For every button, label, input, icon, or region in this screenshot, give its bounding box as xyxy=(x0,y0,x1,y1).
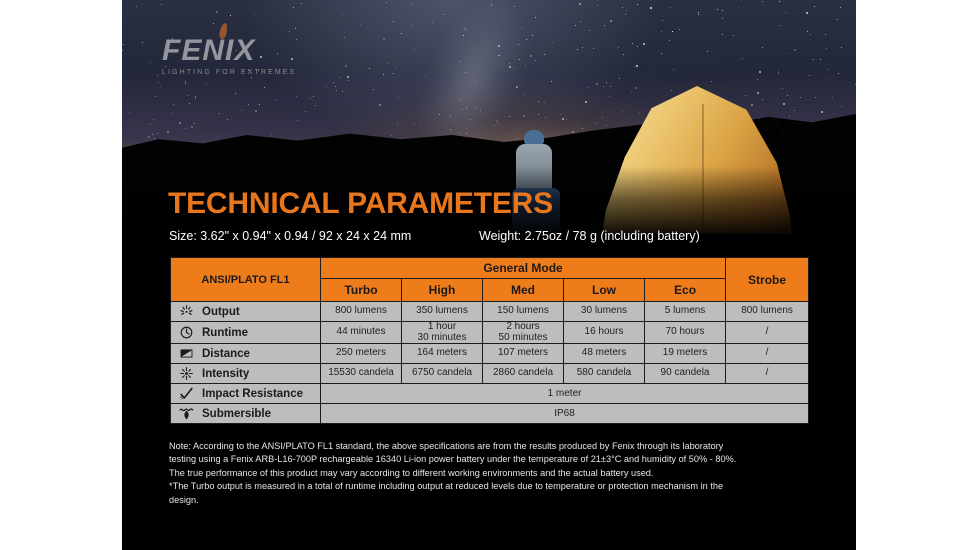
table-row: Output800 lumens350 lumens150 lumens30 l… xyxy=(171,302,809,322)
cell-distance-high: 164 meters xyxy=(402,344,483,364)
logo-tagline: LIGHTING FOR EXTREMES xyxy=(162,69,296,76)
header-strobe: Strobe xyxy=(726,258,809,302)
row-label-text: Distance xyxy=(202,348,250,360)
cell-output-med: 150 lumens xyxy=(483,302,564,322)
row-label-text: Output xyxy=(202,306,240,318)
row-label-distance: Distance xyxy=(171,344,321,364)
row-label-output: Output xyxy=(171,302,321,322)
row-label-intensity: Intensity xyxy=(171,364,321,384)
table-body: Output800 lumens350 lumens150 lumens30 l… xyxy=(171,302,809,424)
cell-intensity-high: 6750 candela xyxy=(402,364,483,384)
table-row: Distance250 meters164 meters107 meters48… xyxy=(171,344,809,364)
cell-text: 50 minutes xyxy=(483,333,563,344)
cell-output-low: 30 lumens xyxy=(564,302,645,322)
cell-text: 48 meters xyxy=(564,348,644,359)
cell-intensity-strobe: / xyxy=(726,364,809,384)
content-panel: FENIX LIGHTING FOR EXTREMES TECHNICAL PA… xyxy=(122,0,856,550)
cell-impact-resistance-value: 1 meter xyxy=(321,384,809,404)
cell-text: 150 lumens xyxy=(483,306,563,317)
note-line-5: design. xyxy=(169,494,817,507)
size-text: Size: 3.62" x 0.94" x 0.94 / 92 x 24 x 2… xyxy=(169,229,479,243)
cell-runtime-eco: 70 hours xyxy=(645,322,726,344)
camper-head xyxy=(524,130,544,145)
cell-text: 164 meters xyxy=(402,348,482,359)
screenshot-root: FENIX LIGHTING FOR EXTREMES TECHNICAL PA… xyxy=(0,0,978,550)
row-label-submersible: Submersible xyxy=(171,404,321,424)
table-head: ANSI/PLATO FL1 General Mode Strobe Turbo… xyxy=(171,258,809,302)
cell-output-high: 350 lumens xyxy=(402,302,483,322)
page-title: TECHNICAL PARAMETERS xyxy=(168,189,553,219)
cell-text: 19 meters xyxy=(645,348,725,359)
row-label-text: Submersible xyxy=(202,408,271,420)
clock-icon xyxy=(178,325,195,340)
header-mode-eco: Eco xyxy=(645,279,726,302)
params-table: ANSI/PLATO FL1 General Mode Strobe Turbo… xyxy=(170,257,809,424)
cell-intensity-eco: 90 candela xyxy=(645,364,726,384)
crosshair-intensity-icon xyxy=(178,366,195,381)
cell-runtime-turbo: 44 minutes xyxy=(321,322,402,344)
cell-runtime-high: 1 hour30 minutes xyxy=(402,322,483,344)
table-row: SubmersibleIP68 xyxy=(171,404,809,424)
header-mode-high: High xyxy=(402,279,483,302)
weight-text: Weight: 2.75oz / 78 g (including battery… xyxy=(479,229,819,243)
cell-runtime-med: 2 hours50 minutes xyxy=(483,322,564,344)
fenix-logo: FENIX LIGHTING FOR EXTREMES xyxy=(162,36,296,76)
water-drop-icon xyxy=(178,406,195,421)
cell-text: 90 candela xyxy=(645,368,725,379)
cell-text: 30 lumens xyxy=(564,306,644,317)
spec-summary-line: Size: 3.62" x 0.94" x 0.94 / 92 x 24 x 2… xyxy=(169,229,819,243)
cell-distance-turbo: 250 meters xyxy=(321,344,402,364)
footnote-block: Note: According to the ANSI/PLATO FL1 st… xyxy=(169,440,817,507)
table-row: Impact Resistance1 meter xyxy=(171,384,809,404)
row-label-impact-resistance: Impact Resistance xyxy=(171,384,321,404)
header-mode-med: Med xyxy=(483,279,564,302)
header-mode-turbo: Turbo xyxy=(321,279,402,302)
cell-distance-eco: 19 meters xyxy=(645,344,726,364)
row-label-text: Runtime xyxy=(202,327,248,339)
cell-text: 6750 candela xyxy=(402,368,482,379)
cell-runtime-low: 16 hours xyxy=(564,322,645,344)
row-label-text: Intensity xyxy=(202,368,249,380)
header-general-mode: General Mode xyxy=(321,258,726,279)
cell-text: 2 hours xyxy=(483,322,563,333)
cell-intensity-med: 2860 candela xyxy=(483,364,564,384)
cell-text: 5 lumens xyxy=(645,306,725,317)
cell-intensity-low: 580 candela xyxy=(564,364,645,384)
light-burst-icon xyxy=(178,304,195,319)
cell-submersible-value: IP68 xyxy=(321,404,809,424)
row-label-runtime: Runtime xyxy=(171,322,321,344)
cell-output-eco: 5 lumens xyxy=(645,302,726,322)
table-row: Intensity15530 candela6750 candela2860 c… xyxy=(171,364,809,384)
cell-text: 800 lumens xyxy=(321,306,401,317)
beam-distance-icon xyxy=(178,346,195,361)
note-line-2: testing using a Fenix ARB-L16-700P recha… xyxy=(169,453,817,466)
cell-distance-low: 48 meters xyxy=(564,344,645,364)
cell-distance-strobe: / xyxy=(726,344,809,364)
cell-text: 44 minutes xyxy=(321,327,401,338)
cell-text: 350 lumens xyxy=(402,306,482,317)
header-row-group: ANSI/PLATO FL1 General Mode Strobe xyxy=(171,258,809,279)
header-mode-low: Low xyxy=(564,279,645,302)
cell-text: 1 hour xyxy=(402,322,482,333)
row-label-text: Impact Resistance xyxy=(202,388,303,400)
header-ansi-plato: ANSI/PLATO FL1 xyxy=(171,258,321,302)
table-row: Runtime44 minutes1 hour30 minutes2 hours… xyxy=(171,322,809,344)
note-line-3: The true performance of this product may… xyxy=(169,467,817,480)
cell-output-strobe: 800 lumens xyxy=(726,302,809,322)
cell-text: 16 hours xyxy=(564,327,644,338)
cell-text: 70 hours xyxy=(645,327,725,338)
cell-text: 2860 candela xyxy=(483,368,563,379)
cell-text: 15530 candela xyxy=(321,368,401,379)
cell-text: 580 candela xyxy=(564,368,644,379)
note-line-4: *The Turbo output is measured in a total… xyxy=(169,480,817,493)
logo-wordmark: FENIX xyxy=(162,36,296,66)
cell-text: 250 meters xyxy=(321,348,401,359)
cell-intensity-turbo: 15530 candela xyxy=(321,364,402,384)
cell-output-turbo: 800 lumens xyxy=(321,302,402,322)
cell-text: 107 meters xyxy=(483,348,563,359)
cell-runtime-strobe: / xyxy=(726,322,809,344)
technical-parameters-table: ANSI/PLATO FL1 General Mode Strobe Turbo… xyxy=(170,257,808,424)
note-line-1: Note: According to the ANSI/PLATO FL1 st… xyxy=(169,440,817,453)
checkmark-impact-icon xyxy=(178,386,195,401)
cell-distance-med: 107 meters xyxy=(483,344,564,364)
cell-text: 30 minutes xyxy=(402,333,482,344)
